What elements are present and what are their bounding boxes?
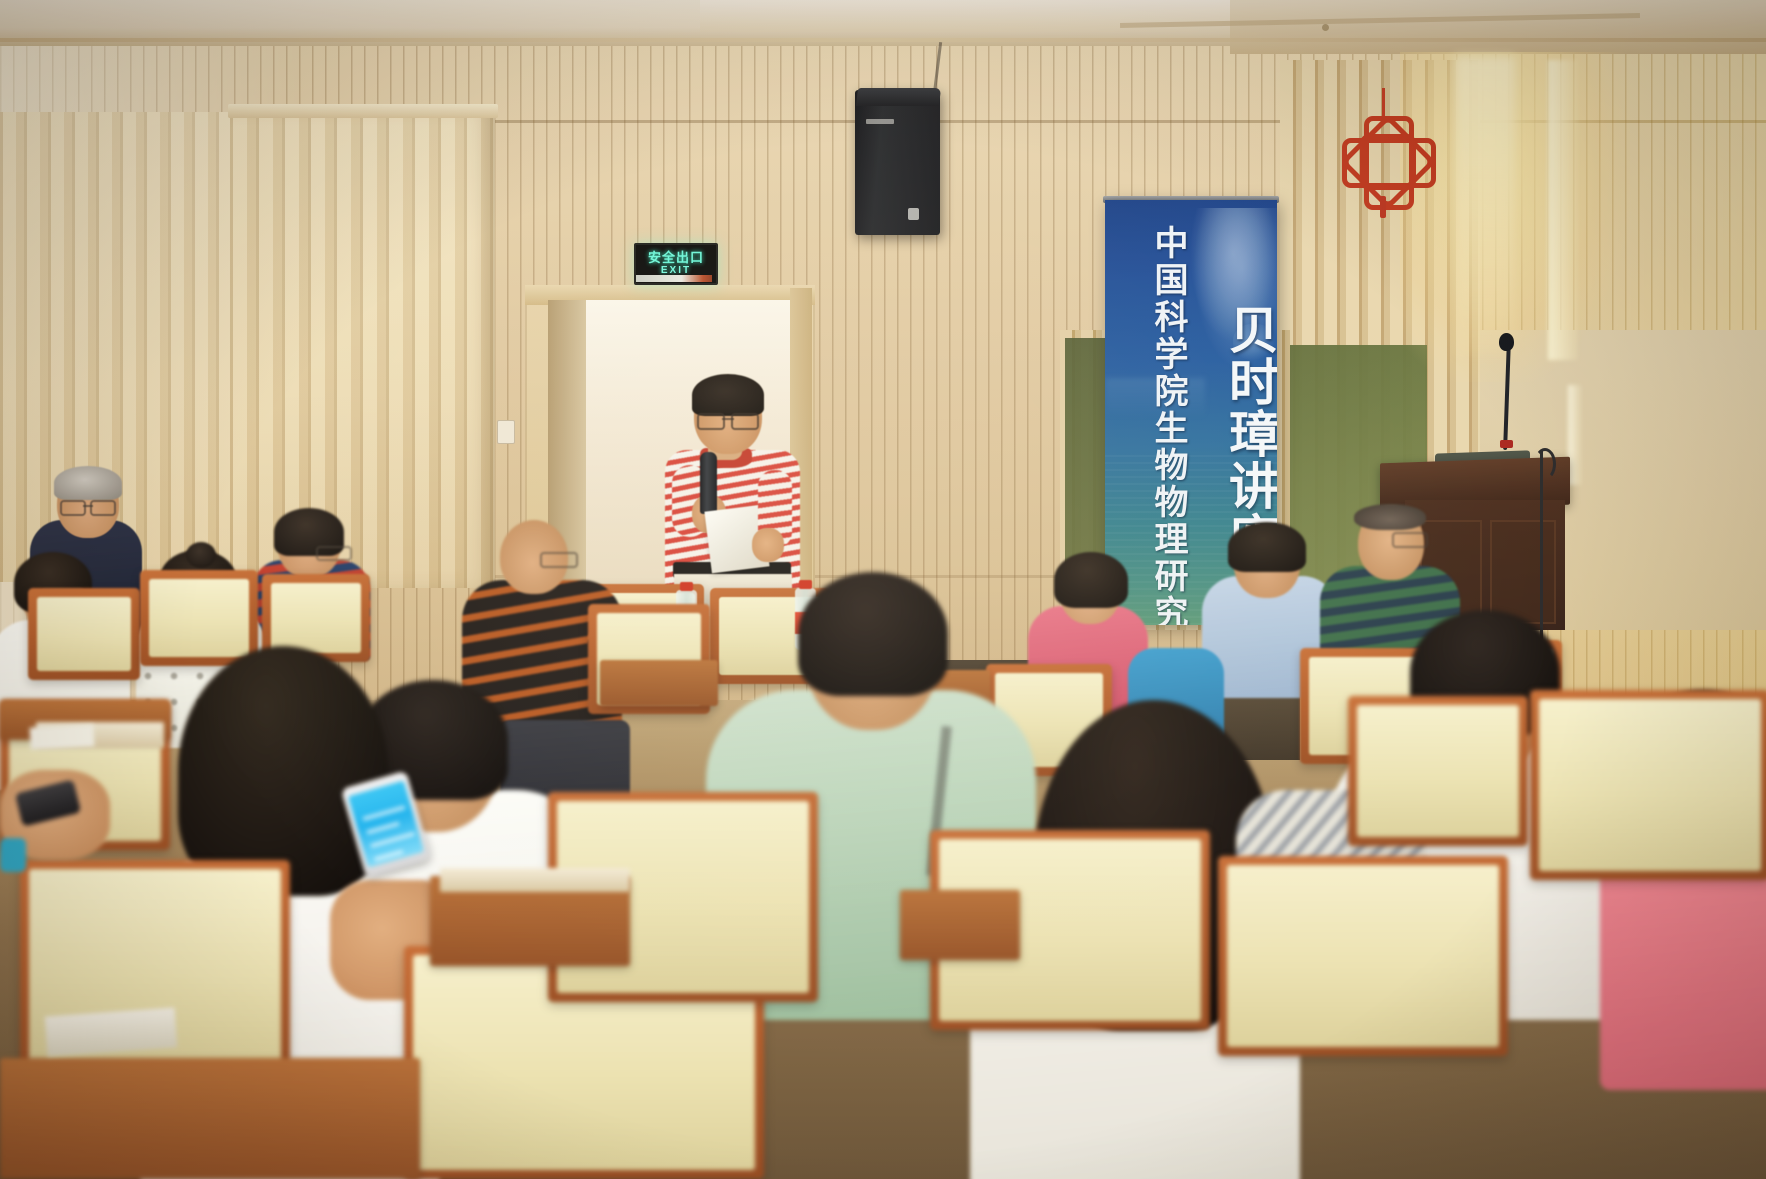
desk: [0, 1058, 420, 1179]
chair[interactable]: [28, 588, 140, 680]
loudspeaker-top: [856, 88, 941, 106]
bun-woman-hair-bun: [186, 542, 216, 568]
handheld-microphone: [700, 452, 717, 514]
light-slot: [1548, 60, 1578, 360]
loudspeaker-logo-icon: [908, 208, 919, 220]
microphone-cable: [1540, 450, 1543, 640]
speaker-glasses-icon: [697, 413, 759, 426]
speaker-hair: [692, 374, 764, 416]
exit-sign-chinese-label: 安全出口: [648, 252, 704, 265]
notetaker-glasses-icon: [540, 552, 578, 568]
pink-top-hair: [1054, 552, 1128, 608]
banner-organization-text: 中国科学院生物物理研究所: [1145, 225, 1187, 625]
ceiling-fixture-icon: [1322, 24, 1329, 31]
desk: [600, 660, 718, 706]
lectern-panel-right: [1490, 520, 1556, 624]
light-column: [1455, 56, 1515, 356]
chair[interactable]: [140, 570, 258, 666]
desk: [900, 890, 1020, 960]
chinese-knot-tassel: [1380, 196, 1386, 218]
striped-shirt-glasses-icon: [316, 546, 352, 561]
lecture-hall-photo: 安全出口 EXIT 中国科学院生物物理研究所 贝时璋讲座: [0, 0, 1766, 1179]
exit-sign-base: [636, 275, 712, 282]
ceiling-right-section: [1230, 0, 1766, 54]
curtain-center: [230, 108, 495, 588]
chair[interactable]: [1530, 690, 1766, 880]
microphone-indicator-light: [1500, 440, 1513, 448]
chair[interactable]: [1218, 856, 1508, 1056]
ceiling-soffit: [700, 0, 1260, 32]
wall-mounted-loudspeaker: [855, 90, 940, 235]
light-slot-lower: [1568, 385, 1582, 485]
bald-man-glasses-icon: [1392, 532, 1428, 548]
curtain-rail: [228, 104, 498, 118]
navy-polo-hair: [54, 466, 122, 500]
papers-on-desk: [29, 724, 94, 749]
ceiling-seam: [0, 38, 1766, 42]
loudspeaker-brand-icon: [866, 119, 894, 124]
phone-user-hair: [178, 646, 388, 896]
desk-surface: [440, 868, 630, 892]
navy-polo-glasses-icon: [60, 500, 116, 512]
teal-accessory: [0, 838, 26, 872]
smartphone-screen: [348, 780, 424, 867]
gooseneck-microphone-head-icon: [1499, 333, 1514, 351]
speaker-hand-left: [752, 528, 784, 562]
blue-shirt-hair: [1228, 522, 1306, 572]
chair[interactable]: [1348, 696, 1528, 846]
chinese-knot-decoration: [1338, 112, 1430, 204]
microphone-cable-loop: [1534, 448, 1556, 480]
green-polo-hair: [798, 572, 948, 696]
window-glow: [1400, 52, 1630, 382]
light-switch[interactable]: [497, 420, 515, 444]
bald-man-hair-fringe: [1354, 504, 1426, 530]
